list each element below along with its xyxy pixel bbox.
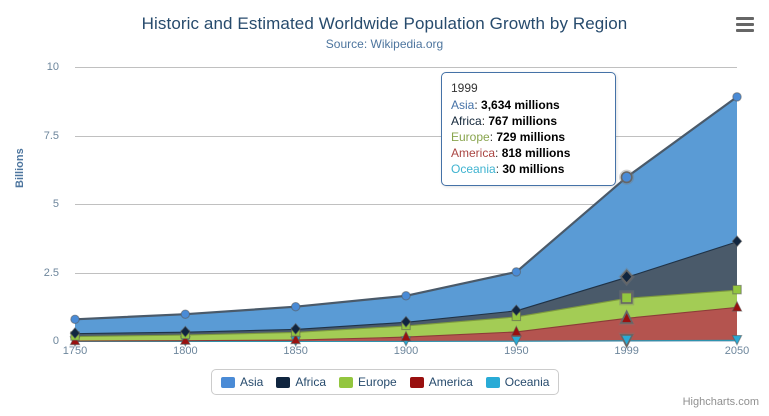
hamburger-bar-2 xyxy=(736,23,754,26)
tooltip-separator: : xyxy=(495,146,502,160)
tooltip-row: Oceania: 30 millions xyxy=(451,161,606,177)
data-point-asia[interactable] xyxy=(402,292,410,300)
legend-swatch-icon xyxy=(486,377,500,388)
hamburger-bar-1 xyxy=(736,17,754,20)
chart-subtitle: Source: Wikipedia.org xyxy=(0,37,769,51)
data-point-europe[interactable] xyxy=(621,293,631,303)
x-axis-tick-label: 1950 xyxy=(504,345,528,357)
y-axis-title: Billions xyxy=(14,148,26,188)
legend-swatch-icon xyxy=(221,377,235,388)
tooltip-series-value: 30 millions xyxy=(502,162,564,176)
tooltip-series-name: Asia xyxy=(451,98,474,112)
data-point-asia[interactable] xyxy=(512,268,520,276)
legend-item-label: Europe xyxy=(358,375,397,389)
y-axis-tick-label: 7.5 xyxy=(0,130,67,142)
tooltip-row: Europe: 729 millions xyxy=(451,129,606,145)
y-axis: 02.557.510 xyxy=(0,0,67,416)
legend-item-asia[interactable]: Asia xyxy=(221,375,263,389)
x-axis-tick-label: 1750 xyxy=(63,345,87,357)
tooltip-series-name: Africa xyxy=(451,114,482,128)
y-axis-tick-label: 0 xyxy=(0,335,67,347)
y-axis-tick-label: 5 xyxy=(0,198,67,210)
credits-link[interactable]: Highcharts.com xyxy=(683,396,759,408)
legend-item-label: Asia xyxy=(240,375,263,389)
data-point-asia[interactable] xyxy=(71,315,79,323)
x-axis-tick-label: 1900 xyxy=(394,345,418,357)
x-axis-tick-label: 2050 xyxy=(725,345,749,357)
tooltip-series-name: Oceania xyxy=(451,162,496,176)
tooltip: 1999 Asia: 3,634 millionsAfrica: 767 mil… xyxy=(441,72,616,186)
tooltip-row: America: 818 millions xyxy=(451,145,606,161)
tooltip-series-value: 818 millions xyxy=(502,146,571,160)
legend-item-oceania[interactable]: Oceania xyxy=(486,375,550,389)
tooltip-series-value: 729 millions xyxy=(496,130,565,144)
tooltip-series-name: Europe xyxy=(451,130,490,144)
tooltip-rows: Asia: 3,634 millionsAfrica: 767 millions… xyxy=(451,97,606,177)
x-axis-tick-label: 1850 xyxy=(283,345,307,357)
x-axis-tick-label: 1800 xyxy=(173,345,197,357)
legend-item-label: Africa xyxy=(295,375,326,389)
highcharts-container: Historic and Estimated Worldwide Populat… xyxy=(0,0,769,416)
data-point-asia[interactable] xyxy=(621,172,631,182)
data-point-europe[interactable] xyxy=(733,285,741,293)
tooltip-separator: : xyxy=(474,98,481,112)
legend-item-europe[interactable]: Europe xyxy=(339,375,397,389)
data-point-asia[interactable] xyxy=(291,302,299,310)
tooltip-series-name: America xyxy=(451,146,495,160)
legend-swatch-icon xyxy=(339,377,353,388)
series-layer xyxy=(75,67,737,342)
hamburger-bar-3 xyxy=(736,29,754,32)
tooltip-series-value: 3,634 millions xyxy=(481,98,560,112)
tooltip-row: Asia: 3,634 millions xyxy=(451,97,606,113)
x-axis-tick-label: 1999 xyxy=(614,345,638,357)
legend-swatch-icon xyxy=(276,377,290,388)
hamburger-menu-icon[interactable] xyxy=(733,13,757,35)
legend-swatch-icon xyxy=(410,377,424,388)
y-axis-tick-label: 10 xyxy=(0,61,67,73)
y-axis-tick-label: 2.5 xyxy=(0,267,67,279)
legend-item-label: Oceania xyxy=(505,375,550,389)
tooltip-header: 1999 xyxy=(451,80,606,96)
legend: AsiaAfricaEuropeAmericaOceania xyxy=(211,369,559,395)
data-point-asia[interactable] xyxy=(733,93,741,101)
legend-item-label: America xyxy=(429,375,473,389)
x-axis: 1750180018501900195019992050 xyxy=(75,345,737,365)
tooltip-row: Africa: 767 millions xyxy=(451,113,606,129)
legend-item-america[interactable]: America xyxy=(410,375,473,389)
page-title: Historic and Estimated Worldwide Populat… xyxy=(0,14,769,34)
data-point-asia[interactable] xyxy=(181,310,189,318)
tooltip-series-value: 767 millions xyxy=(488,114,557,128)
legend-item-africa[interactable]: Africa xyxy=(276,375,326,389)
